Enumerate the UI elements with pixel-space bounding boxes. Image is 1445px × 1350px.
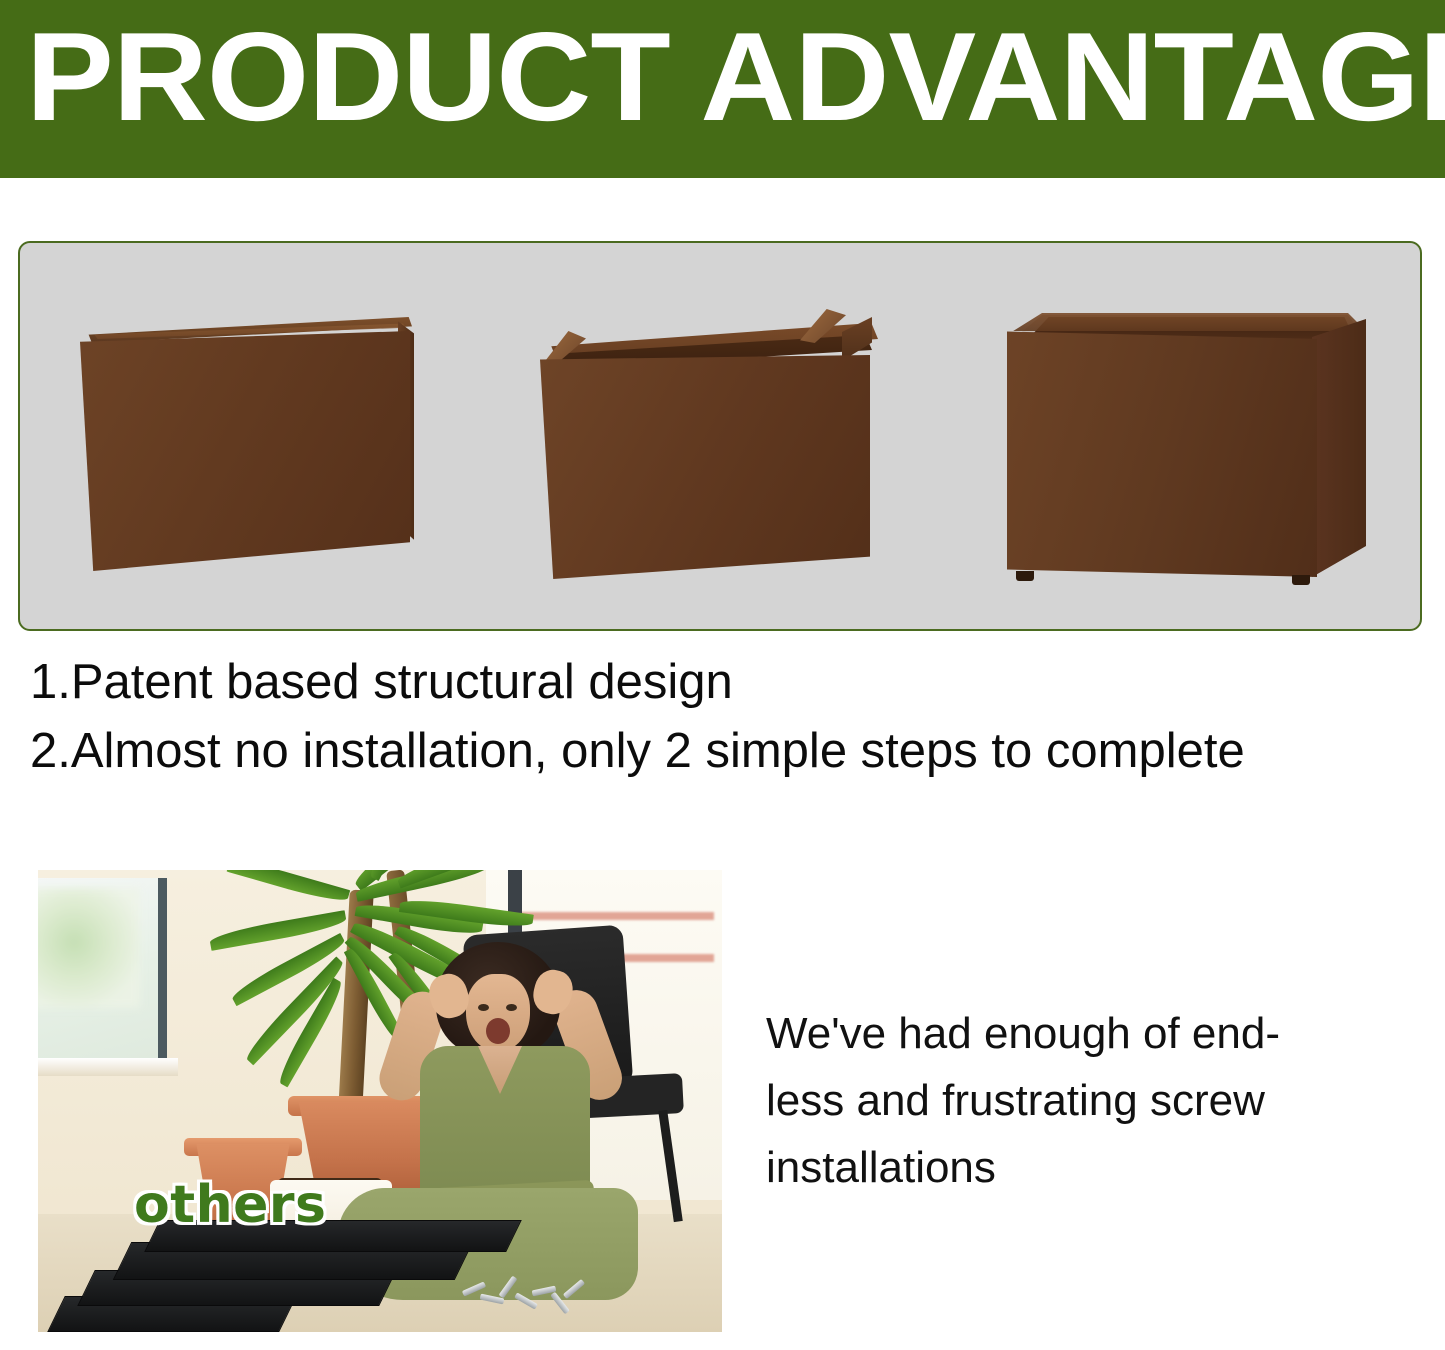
window-sill: [38, 1058, 178, 1076]
step-folded-flat-planter: [36, 243, 456, 629]
caption-line-1: We've had enough of end-: [766, 1000, 1326, 1067]
woman-eye-left: [478, 1004, 489, 1011]
assembly-steps-panel: [18, 241, 1422, 631]
planter-front-face-icon: [540, 355, 870, 579]
planter-front-face-icon: [1007, 329, 1317, 577]
window-outdoor-view: [38, 888, 140, 1008]
caption-line-2: less and frustrating screw: [766, 1067, 1326, 1134]
planter-foot-right-icon: [1292, 575, 1310, 585]
frustrated-woman-photo: [38, 870, 722, 1332]
header-banner: PRODUCT ADVANTAGES: [0, 0, 1445, 178]
woman-open-mouth: [486, 1018, 510, 1044]
woman-eye-right: [506, 1004, 517, 1011]
others-badge: others: [134, 1179, 326, 1231]
scattered-screws: [462, 1282, 592, 1316]
planter-right-flap-icon: [842, 317, 872, 361]
window-left: [38, 878, 167, 1067]
step-partially-opened-planter: [508, 243, 928, 629]
step-assembled-planter-box: [980, 243, 1410, 629]
caption-line-3: installations: [766, 1134, 1326, 1201]
comparison-caption: We've had enough of end- less and frustr…: [766, 1000, 1326, 1201]
screw-icon: [563, 1279, 585, 1299]
advantages-list: 1.Patent based structural design 2.Almos…: [30, 648, 1410, 786]
planter-rim-icon: [1006, 313, 1366, 331]
planter-foot-left-icon: [1016, 571, 1034, 581]
planter-front-face-icon: [80, 331, 410, 571]
advantage-item-2: 2.Almost no installation, only 2 simple …: [30, 717, 1410, 786]
planter-side-face-icon: [1312, 319, 1366, 577]
advantage-item-1: 1.Patent based structural design: [30, 648, 1410, 717]
page-title: PRODUCT ADVANTAGES: [26, 14, 1445, 140]
